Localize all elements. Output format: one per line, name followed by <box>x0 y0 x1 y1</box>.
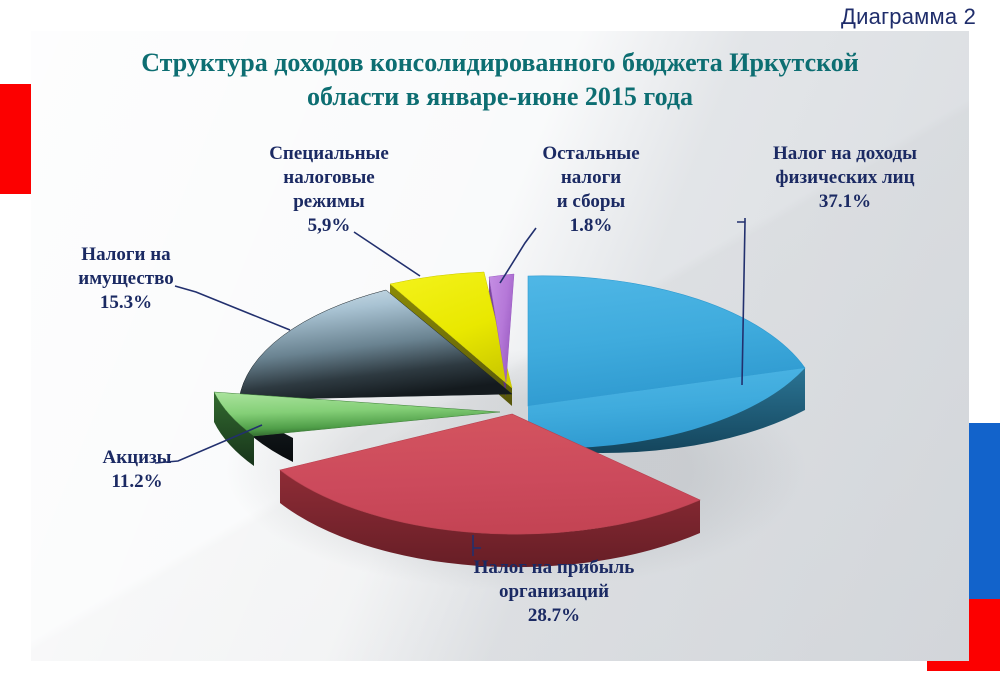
slice-label-excise: Акцизы 11.2% <box>46 446 228 494</box>
slice-label-special: Специальные налоговые режимы 5,9% <box>246 142 412 238</box>
slice-label-property: Налоги на имущество 15.3% <box>34 243 218 315</box>
slice-label-profit: Налог на прибыль организаций 28.7% <box>430 556 678 628</box>
slide-canvas: Диаграмма 2 Структура доходов консолидир… <box>0 0 1000 692</box>
leader-line-special <box>354 232 420 276</box>
slice-label-other: Остальные налоги и сборы 1.8% <box>508 142 674 238</box>
slice-label-ndfl: Налог на доходы физических лиц 37.1% <box>722 142 968 214</box>
